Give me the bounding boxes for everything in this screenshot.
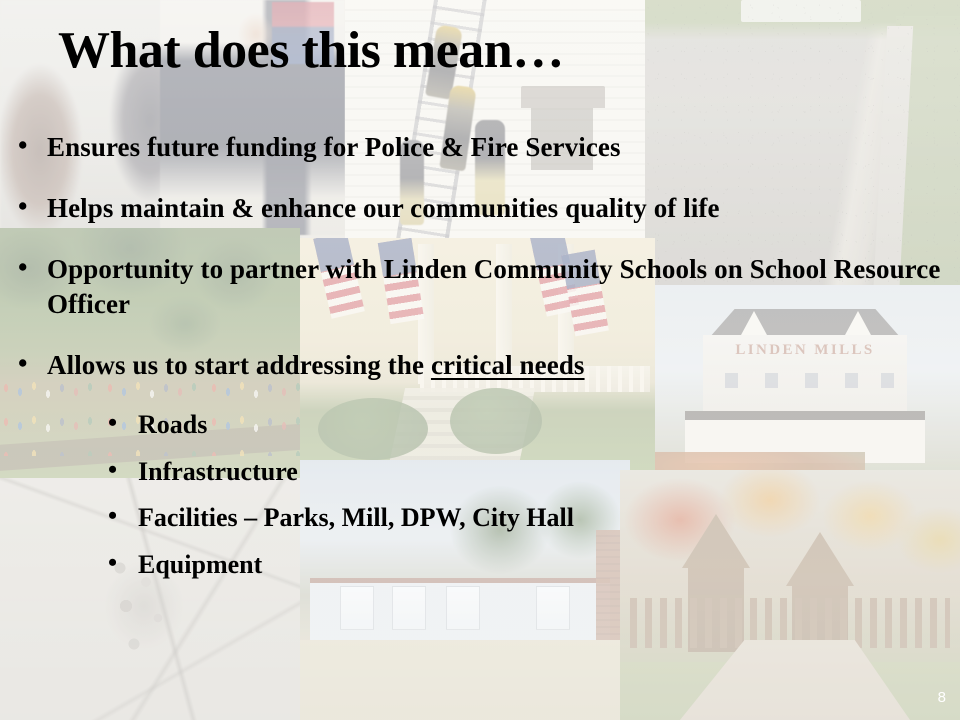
presentation-slide: LINDEN MILLS (0, 0, 960, 720)
bullet-text-plain: Allows us to start addressing the (47, 350, 431, 380)
sub-bullet-item: Infrastructure (16, 456, 960, 489)
bullet-item: Opportunity to partner with Linden Commu… (16, 252, 960, 322)
slide-text-layer: What does this mean… Ensures future fund… (0, 0, 960, 720)
bullet-item-critical-needs: Allows us to start addressing the critic… (16, 348, 960, 383)
page-title: What does this mean… (58, 24, 564, 79)
bullet-list: Ensures future funding for Police & Fire… (16, 130, 960, 595)
bullet-item: Helps maintain & enhance our communities… (16, 191, 960, 226)
bullet-item: Ensures future funding for Police & Fire… (16, 130, 960, 165)
bullet-text-underlined: critical needs (431, 350, 585, 380)
sub-bullet-item: Facilities – Parks, Mill, DPW, City Hall (16, 502, 960, 535)
sub-bullet-item: Roads (16, 409, 960, 442)
page-number: 8 (938, 689, 946, 706)
sub-bullet-item: Equipment (16, 549, 960, 582)
sub-bullet-list: Roads Infrastructure Facilities – Parks,… (16, 409, 960, 581)
